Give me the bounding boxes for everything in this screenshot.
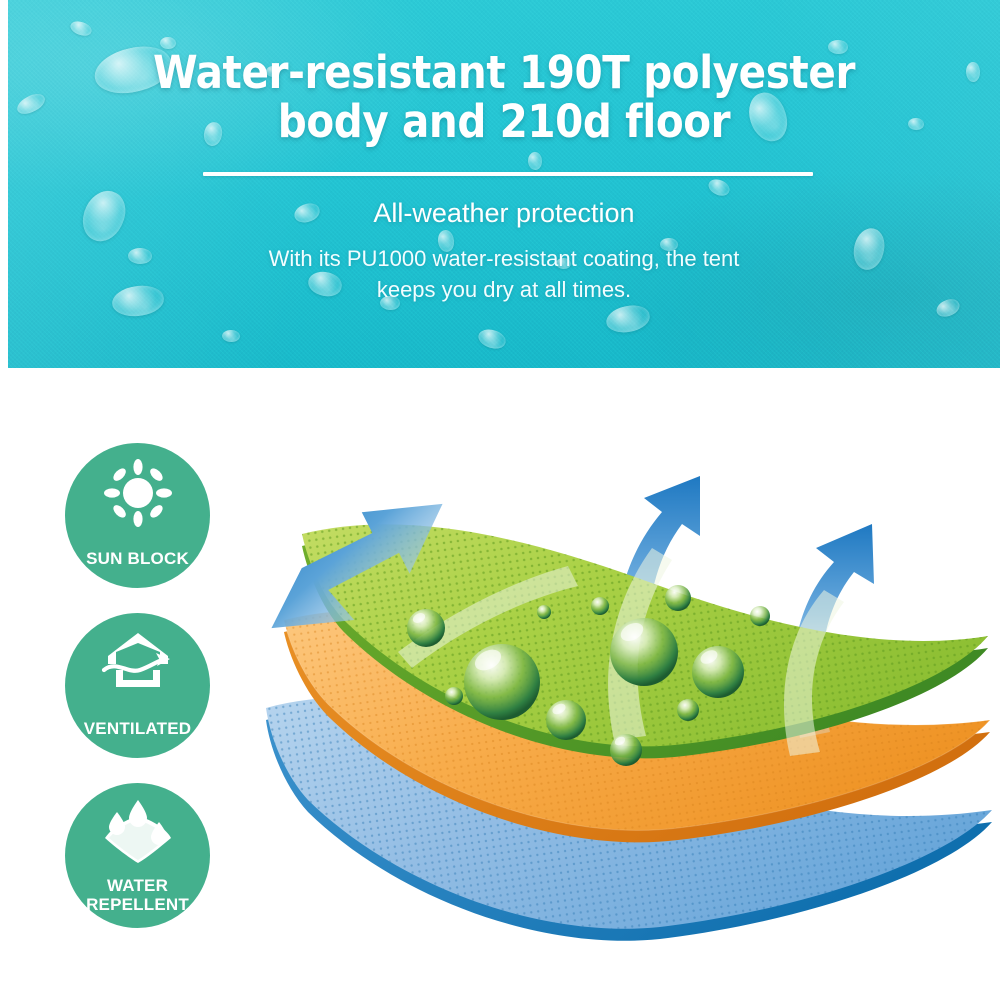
fabric-droplets-icon [65, 799, 210, 867]
banner-body-text: With its PU1000 water-resistant coating,… [8, 243, 1000, 305]
hero-banner: Water-resistant 190T polyester body and … [8, 0, 1000, 368]
badge-label: WATER REPELLENT [65, 876, 210, 914]
badge-ventilated: VENTILATED [65, 613, 210, 758]
infographic-page: Water-resistant 190T polyester body and … [0, 0, 1000, 1000]
banner-subheadline: All-weather protection [8, 196, 1000, 230]
badge-sun-block: SUN BLOCK [65, 443, 210, 588]
feature-badge-list: SUN BLOCK VENTILATED [65, 443, 215, 953]
banner-divider [203, 172, 813, 176]
banner-headline: Water-resistant 190T polyester body and … [8, 48, 1000, 146]
house-airflow-icon [65, 629, 210, 697]
fabric-layers-illustration [248, 420, 1000, 980]
badge-label: SUN BLOCK [65, 550, 210, 568]
sun-icon [65, 459, 210, 527]
badge-water-repellent: WATER REPELLENT [65, 783, 210, 928]
badge-label: VENTILATED [65, 720, 210, 738]
